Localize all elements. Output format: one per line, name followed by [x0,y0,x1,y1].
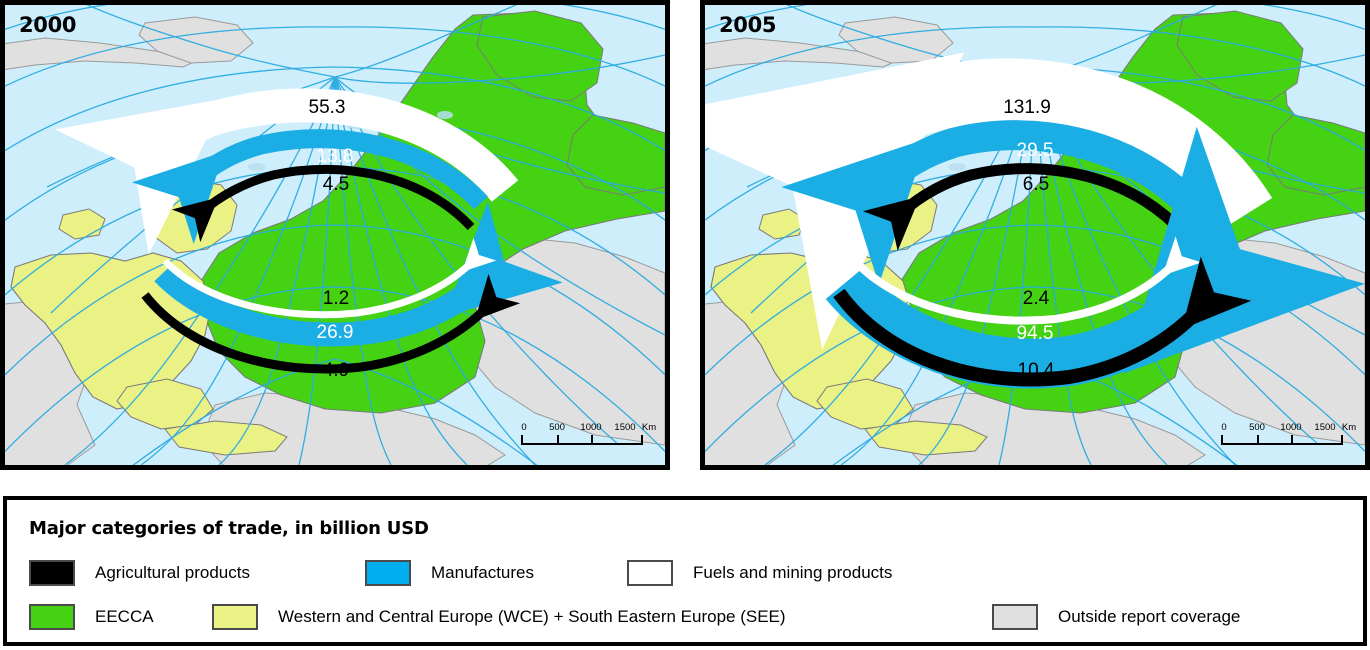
flow-value-eecca-to-wce-agricultural: 4.5 [323,174,349,196]
scale-label-1000: 1000 [580,422,601,433]
legend-item-wce-see[interactable]: Western and Central Europe (WCE) + South… [212,600,786,634]
scale-label-1500: 1500 [614,422,635,433]
legend-title: Major categories of trade, in billion US… [29,518,429,539]
scale-label-500: 500 [1249,422,1265,433]
legend-swatch-outside-report-coverage [992,604,1038,630]
scale-label-1500: 1500 [1314,422,1335,433]
legend-swatch-fuels-and-mining-products [627,560,673,586]
legend-item-outside-report-coverage[interactable]: Outside report coverage [992,600,1240,634]
map-panel-2005[interactable]: 2005 131.9 29.5 6.5 2.4 94.5 10.4 0 500 … [700,0,1370,470]
scale-label-500: 500 [549,422,565,433]
flow-value-eecca-to-wce-agricultural: 6.5 [1023,174,1049,196]
flow-value-wce-to-eecca-fuels: 2.4 [1023,288,1049,310]
scale-bar-graphic [521,435,643,445]
legend-item-manufactures[interactable]: Manufactures [365,556,534,590]
legend-panel: Major categories of trade, in billion US… [3,496,1367,646]
scale-label-1000: 1000 [1280,422,1301,433]
legend-label-agricultural-products: Agricultural products [95,563,250,583]
map-panel-2000[interactable]: 2000 55.3 13.8 4.5 1.2 26.9 4.9 0 500 10… [0,0,670,470]
scale-label-0: 0 [521,422,526,433]
legend-label-wce-see: Western and Central Europe (WCE) + South… [278,607,786,627]
flow-value-eecca-to-wce-fuels: 55.3 [309,97,346,119]
legend-swatch-agricultural-products [29,560,75,586]
flow-value-wce-to-eecca-fuels: 1.2 [323,288,349,310]
scale-unit: Km [1342,422,1356,433]
legend-item-agricultural-products[interactable]: Agricultural products [29,556,250,590]
legend-row-trade-categories: Agricultural products Manufactures Fuels… [7,556,1363,590]
scale-bar-2005: 0 500 1000 1500 Km [1221,422,1343,445]
legend-label-manufactures: Manufactures [431,563,534,583]
legend-item-fuels-and-mining-products[interactable]: Fuels and mining products [627,556,892,590]
flow-value-wce-to-eecca-manufactures: 26.9 [317,322,354,344]
legend-swatch-manufactures [365,560,411,586]
map-graphic-2005 [705,5,1365,465]
flow-value-wce-to-eecca-manufactures: 94.5 [1017,323,1054,345]
legend-swatch-eecca [29,604,75,630]
scale-bar-2000: 0 500 1000 1500 Km [521,422,643,445]
scale-bar-labels: 0 500 1000 1500 Km [1221,422,1343,435]
legend-row-regions: EECCA Western and Central Europe (WCE) +… [7,600,1363,634]
scale-bar-labels: 0 500 1000 1500 Km [521,422,643,435]
map-graphic-2000 [5,5,665,465]
scale-bar-graphic [1221,435,1343,445]
scale-label-0: 0 [1221,422,1226,433]
flow-value-wce-to-eecca-agricultural: 4.9 [323,360,349,382]
scale-unit: Km [642,422,656,433]
legend-swatch-wce-see [212,604,258,630]
panel-year-label-2000: 2000 [19,13,76,37]
flow-value-eecca-to-wce-manufactures: 13.8 [317,146,354,168]
flow-value-eecca-to-wce-manufactures: 29.5 [1017,140,1054,162]
flow-value-wce-to-eecca-agricultural: 10.4 [1018,360,1055,382]
trade-flow-map-figure: 2000 55.3 13.8 4.5 1.2 26.9 4.9 0 500 10… [0,0,1370,650]
panel-year-label-2005: 2005 [719,13,776,37]
flow-value-eecca-to-wce-fuels: 131.9 [1003,97,1051,119]
legend-label-outside-report-coverage: Outside report coverage [1058,607,1240,627]
legend-item-eecca[interactable]: EECCA [29,600,154,634]
legend-label-eecca: EECCA [95,607,154,627]
legend-label-fuels-and-mining-products: Fuels and mining products [693,563,892,583]
